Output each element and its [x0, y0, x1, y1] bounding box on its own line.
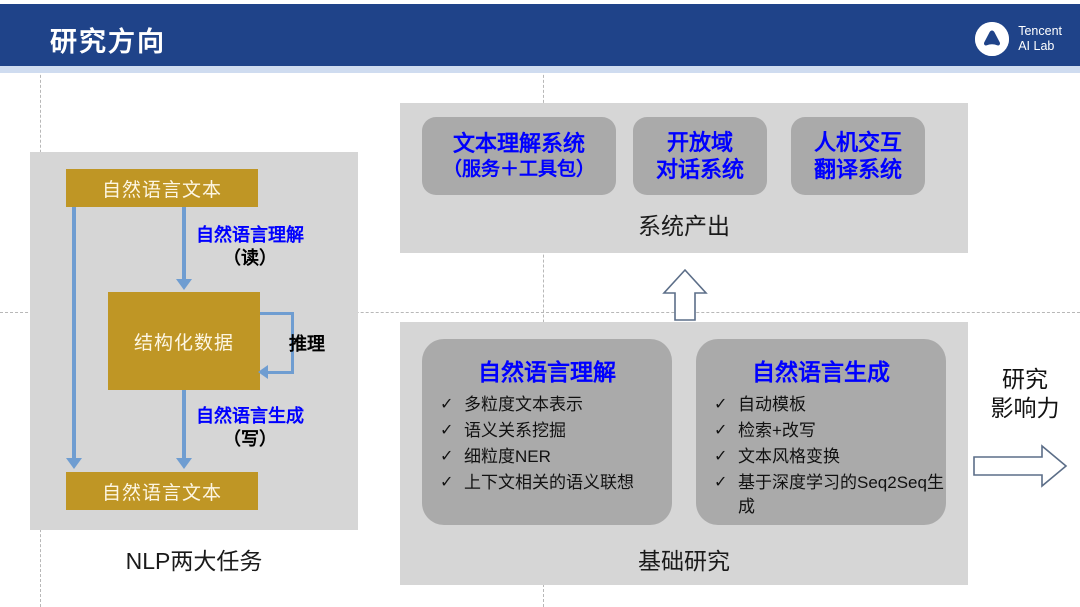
label-nlg-sub: （写）	[150, 428, 350, 451]
tencent-logo-icon	[975, 22, 1009, 56]
caption-system-output: 系统产出	[400, 207, 968, 241]
pill-1-line-1: 开放域	[667, 129, 733, 156]
research-impact-line-1: 研究	[975, 365, 1075, 394]
box-natural-language-text-bottom: 自然语言文本	[66, 472, 258, 510]
pill-open-domain-dialogue-system[interactable]: 开放域 对话系统	[633, 117, 767, 195]
list-item: ✓细粒度NER	[436, 445, 672, 469]
list-item-label: 语义关系挖掘	[464, 421, 566, 440]
list-item: ✓上下文相关的语义联想	[436, 471, 672, 495]
box-nlu-list: ✓多粒度文本表示 ✓语义关系挖掘 ✓细粒度NER ✓上下文相关的语义联想	[422, 393, 672, 495]
up-arrow-outline-icon	[662, 268, 708, 322]
box-nlg-list: ✓自动模板 ✓检索+改写 ✓文本风格变换 ✓基于深度学习的Seq2Seq生成	[696, 393, 946, 519]
slide-canvas: 研究方向 Tencent AI Lab 自然语言文本 结构化数据 自然语言文本	[0, 0, 1080, 607]
logo-line-1: Tencent	[1018, 24, 1062, 39]
box-nlu-research[interactable]: 自然语言理解 ✓多粒度文本表示 ✓语义关系挖掘 ✓细粒度NER ✓上下文相关的语…	[422, 339, 672, 525]
box-natural-language-text-top: 自然语言文本	[66, 169, 258, 207]
logo-line-2: AI Lab	[1018, 39, 1062, 54]
research-impact-label: 研究 影响力	[975, 365, 1075, 423]
list-item-label: 自动模板	[738, 395, 806, 414]
arrow-nlg-head	[176, 458, 192, 469]
loop-top-segment	[260, 312, 294, 315]
list-item: ✓语义关系挖掘	[436, 419, 672, 443]
list-item-label: 多粒度文本表示	[464, 395, 583, 414]
box-nlu-heading: 自然语言理解	[422, 353, 672, 387]
check-icon: ✓	[440, 445, 453, 469]
list-item: ✓检索+改写	[710, 419, 946, 443]
pill-0-line-2: （服务＋工具包）	[443, 157, 595, 182]
label-nlu-sub: （读）	[150, 247, 350, 270]
pill-text-understanding-system[interactable]: 文本理解系统 （服务＋工具包）	[422, 117, 616, 195]
pill-2-line-1: 人机交互	[814, 129, 902, 156]
system-output-panel: 文本理解系统 （服务＋工具包） 开放域 对话系统 人机交互 翻译系统 系统产出	[400, 103, 968, 253]
list-item: ✓基于深度学习的Seq2Seq生成	[710, 471, 946, 519]
loop-arrow-head	[258, 365, 268, 379]
title-bar: 研究方向 Tencent AI Lab	[0, 4, 1080, 66]
label-nlg: 自然语言生成 （写）	[150, 405, 350, 451]
pill-0-line-1: 文本理解系统	[453, 130, 585, 157]
title-underbar	[0, 66, 1080, 73]
caption-nlp-tasks: NLP两大任务	[30, 542, 358, 576]
tencent-ai-lab-logo: Tencent AI Lab	[975, 22, 1062, 56]
check-icon: ✓	[714, 419, 727, 443]
research-impact-line-2: 影响力	[975, 394, 1075, 423]
logo-text: Tencent AI Lab	[1018, 24, 1062, 54]
label-nlu-main: 自然语言理解	[150, 224, 350, 247]
list-item-label: 基于深度学习的Seq2Seq生成	[738, 473, 944, 516]
list-item-label: 细粒度NER	[464, 447, 551, 466]
check-icon: ✓	[714, 471, 727, 495]
arrow-bypass-head	[66, 458, 82, 469]
check-icon: ✓	[440, 471, 453, 495]
check-icon: ✓	[440, 419, 453, 443]
box-nlg-heading: 自然语言生成	[696, 353, 946, 387]
list-item-label: 文本风格变换	[738, 447, 840, 466]
arrow-nlu-head	[176, 279, 192, 290]
list-item: ✓自动模板	[710, 393, 946, 417]
page-title: 研究方向	[50, 20, 166, 59]
pill-1-line-2: 对话系统	[656, 156, 744, 183]
arrow-bypass-line	[72, 207, 76, 458]
check-icon: ✓	[440, 393, 453, 417]
pill-2-line-2: 翻译系统	[814, 156, 902, 183]
list-item: ✓多粒度文本表示	[436, 393, 672, 417]
basic-research-panel: 自然语言理解 ✓多粒度文本表示 ✓语义关系挖掘 ✓细粒度NER ✓上下文相关的语…	[400, 322, 968, 585]
list-item-label: 上下文相关的语义联想	[464, 473, 634, 492]
list-item: ✓文本风格变换	[710, 445, 946, 469]
box-nlg-research[interactable]: 自然语言生成 ✓自动模板 ✓检索+改写 ✓文本风格变换 ✓基于深度学习的Seq2…	[696, 339, 946, 525]
loop-bottom-segment	[268, 371, 294, 374]
nlp-tasks-panel: 自然语言文本 结构化数据 自然语言文本 自然语言理解 （读） 自然语言生成 （写…	[30, 152, 358, 530]
label-reasoning: 推理	[289, 330, 325, 356]
check-icon: ✓	[714, 393, 727, 417]
caption-basic-research: 基础研究	[400, 542, 968, 576]
label-nlg-main: 自然语言生成	[150, 405, 350, 428]
pill-human-machine-translation-system[interactable]: 人机交互 翻译系统	[791, 117, 925, 195]
right-arrow-outline-icon	[972, 443, 1068, 489]
check-icon: ✓	[714, 445, 727, 469]
label-nlu: 自然语言理解 （读）	[150, 224, 350, 270]
list-item-label: 检索+改写	[738, 421, 816, 440]
box-structured-data: 结构化数据	[108, 292, 260, 390]
